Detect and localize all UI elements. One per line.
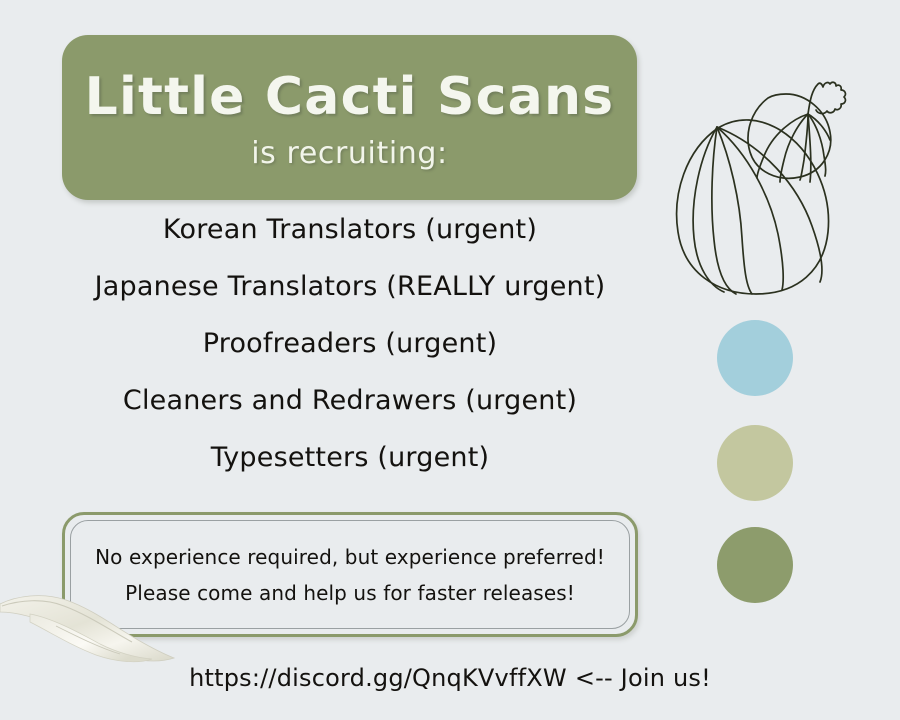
list-item: Korean Translators (urgent)	[163, 216, 537, 243]
cactus-line-art-icon	[660, 40, 900, 300]
page-title: Little Cacti Scans	[85, 71, 615, 123]
list-item: Cleaners and Redrawers (urgent)	[123, 387, 577, 414]
note-line: Please come and help us for faster relea…	[125, 583, 575, 603]
color-swatch-sage-green	[717, 425, 793, 501]
list-item: Typesetters (urgent)	[211, 444, 489, 471]
page-subtitle: is recruiting:	[251, 136, 447, 171]
list-item: Japanese Translators (REALLY urgent)	[95, 273, 606, 300]
recruitment-poster: Little Cacti Scans is recruiting:	[0, 0, 900, 720]
list-item: Proofreaders (urgent)	[203, 330, 497, 357]
join-us-callout: <-- Join us!	[575, 664, 711, 692]
title-banner: Little Cacti Scans is recruiting:	[62, 35, 637, 200]
tape-decoration	[0, 556, 181, 671]
color-swatch-olive-green	[717, 527, 793, 603]
crumpled-tape-icon	[0, 556, 181, 671]
roles-list: Korean Translators (urgent) Japanese Tra…	[20, 216, 680, 471]
discord-invite-link[interactable]: https://discord.gg/QnqKVvffXW	[189, 664, 567, 692]
color-swatch-light-blue	[717, 320, 793, 396]
discord-invite-line[interactable]: https://discord.gg/QnqKVvffXW<-- Join us…	[0, 664, 900, 692]
cactus-illustration	[660, 40, 900, 300]
